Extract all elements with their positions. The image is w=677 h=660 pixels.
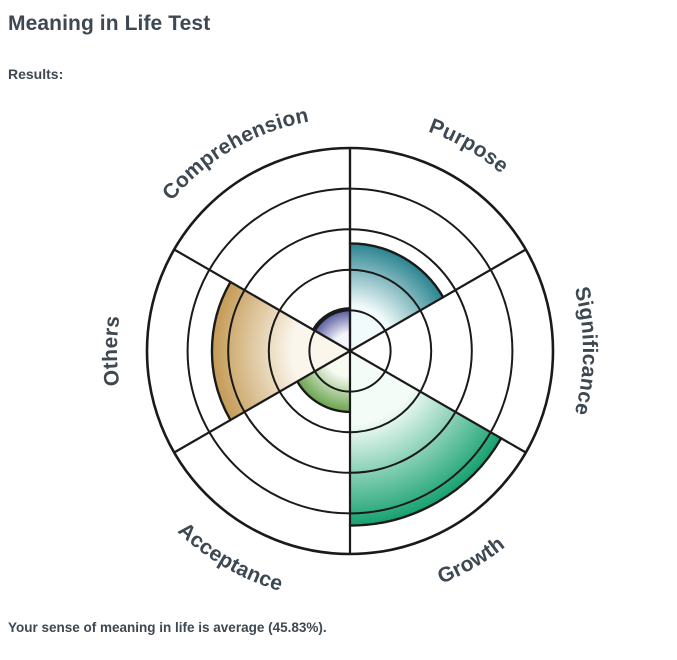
chart-sector-growth: [350, 351, 501, 526]
axis-label-significance: Significance: [570, 284, 601, 418]
result-summary-text: Your sense of meaning in life is average…: [8, 620, 327, 635]
page-title: Meaning in Life Test: [8, 12, 210, 36]
polar-chart-container: PurposeSignificanceGrowthAcceptanceOther…: [0, 105, 677, 595]
axis-label-others: Others: [99, 314, 125, 387]
axis-label-comprehension: Comprehension: [158, 105, 311, 205]
meaning-polar-chart: PurposeSignificanceGrowthAcceptanceOther…: [0, 105, 677, 595]
axis-label-acceptance: Acceptance: [174, 518, 286, 595]
meaning-in-life-test-page: Meaning in Life Test Results: PurposeSig…: [0, 0, 677, 660]
axis-label-growth: Growth: [434, 532, 509, 588]
results-label: Results:: [8, 66, 63, 82]
